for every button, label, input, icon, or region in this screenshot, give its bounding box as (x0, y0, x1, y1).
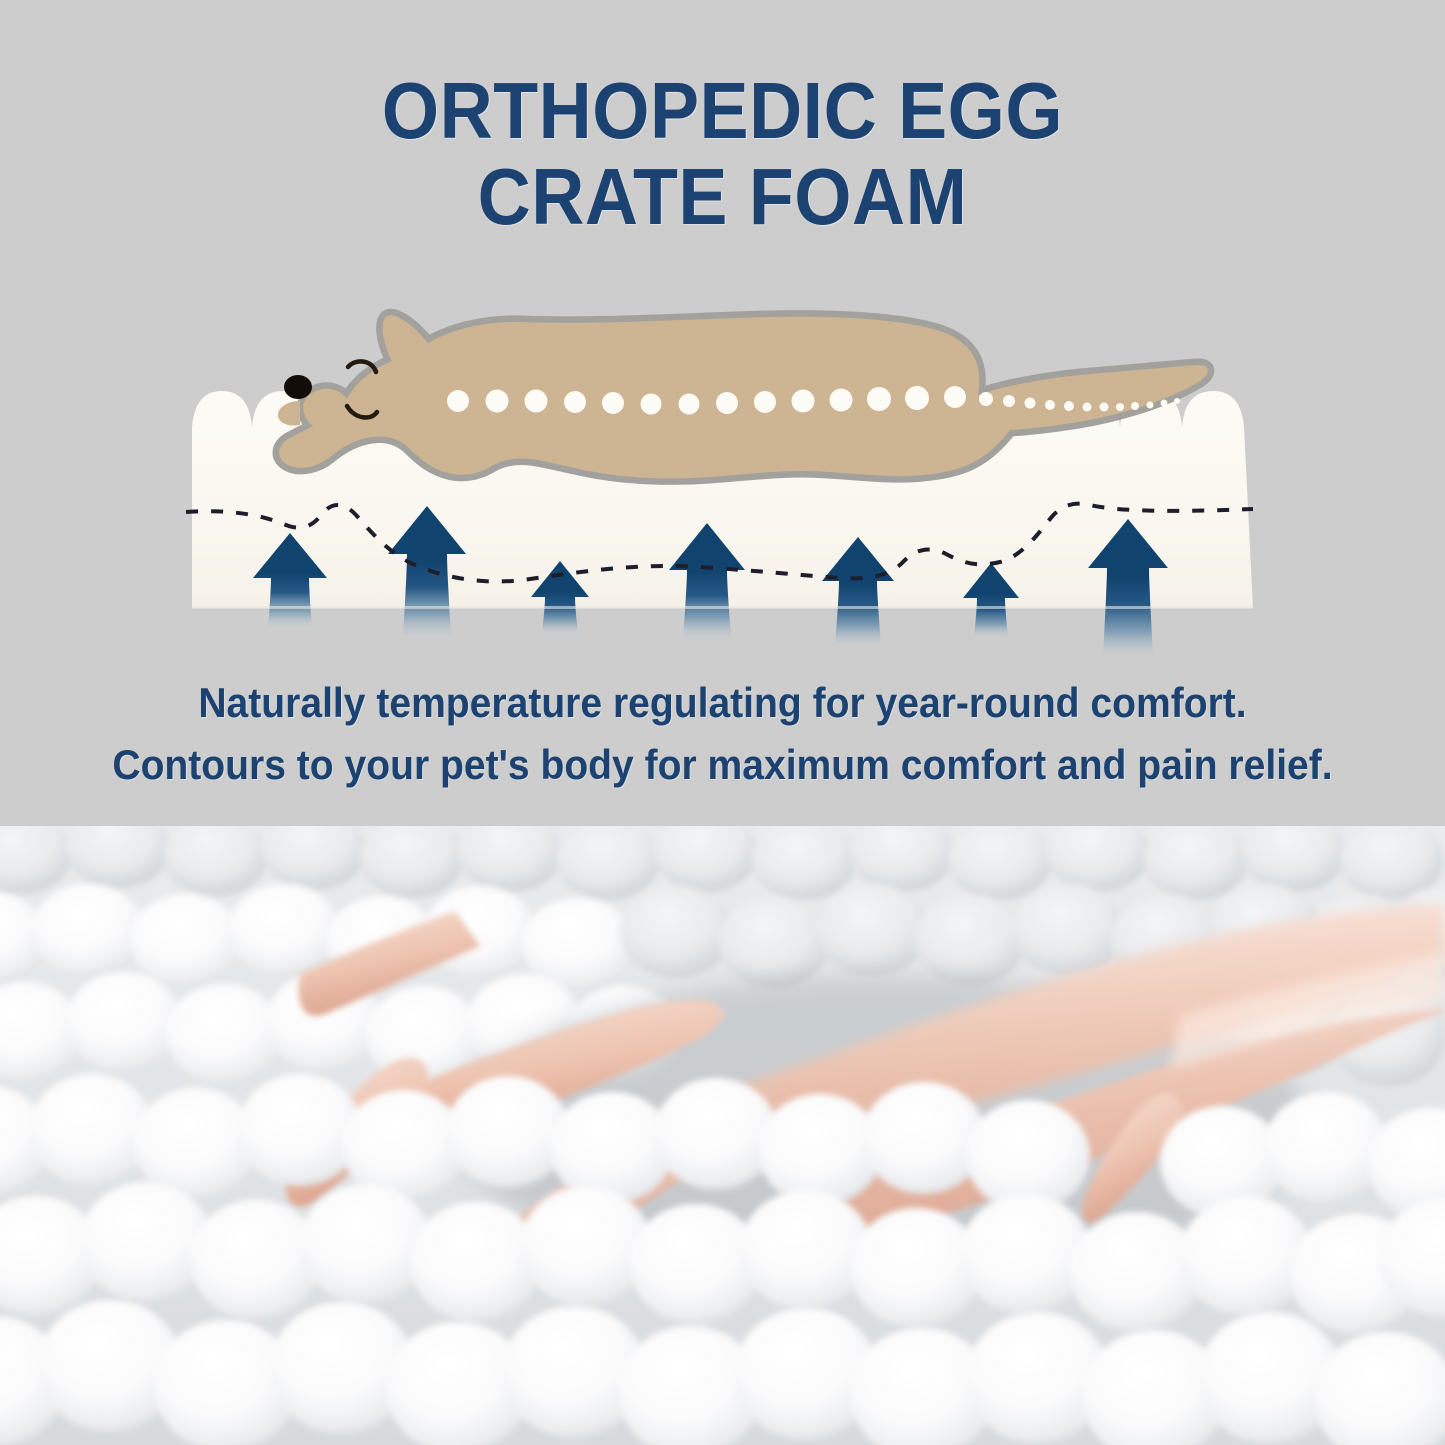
caption-line-1: Naturally temperature regulating for yea… (51, 672, 1395, 734)
caption-line-2: Contours to your pet's body for maximum … (51, 734, 1395, 796)
product-infographic: ORTHOPEDIC EGG CRATE FOAM (0, 0, 1445, 1445)
page-title: ORTHOPEDIC EGG CRATE FOAM (58, 68, 1387, 240)
foam-baseline (192, 606, 1253, 609)
feature-caption: Naturally temperature regulating for yea… (51, 672, 1395, 796)
foam-photo-panel (0, 826, 1445, 1445)
dog-nose (284, 375, 312, 399)
illustration-svg (0, 275, 1445, 675)
foam-dog-illustration (0, 275, 1445, 675)
foam-texture-front (0, 1074, 1445, 1445)
headline-line-1: ORTHOPEDIC EGG (58, 68, 1387, 154)
top-graphic-panel: ORTHOPEDIC EGG CRATE FOAM (0, 0, 1445, 826)
headline-line-2: CRATE FOAM (58, 154, 1387, 240)
foam-photo-svg (0, 826, 1445, 1445)
